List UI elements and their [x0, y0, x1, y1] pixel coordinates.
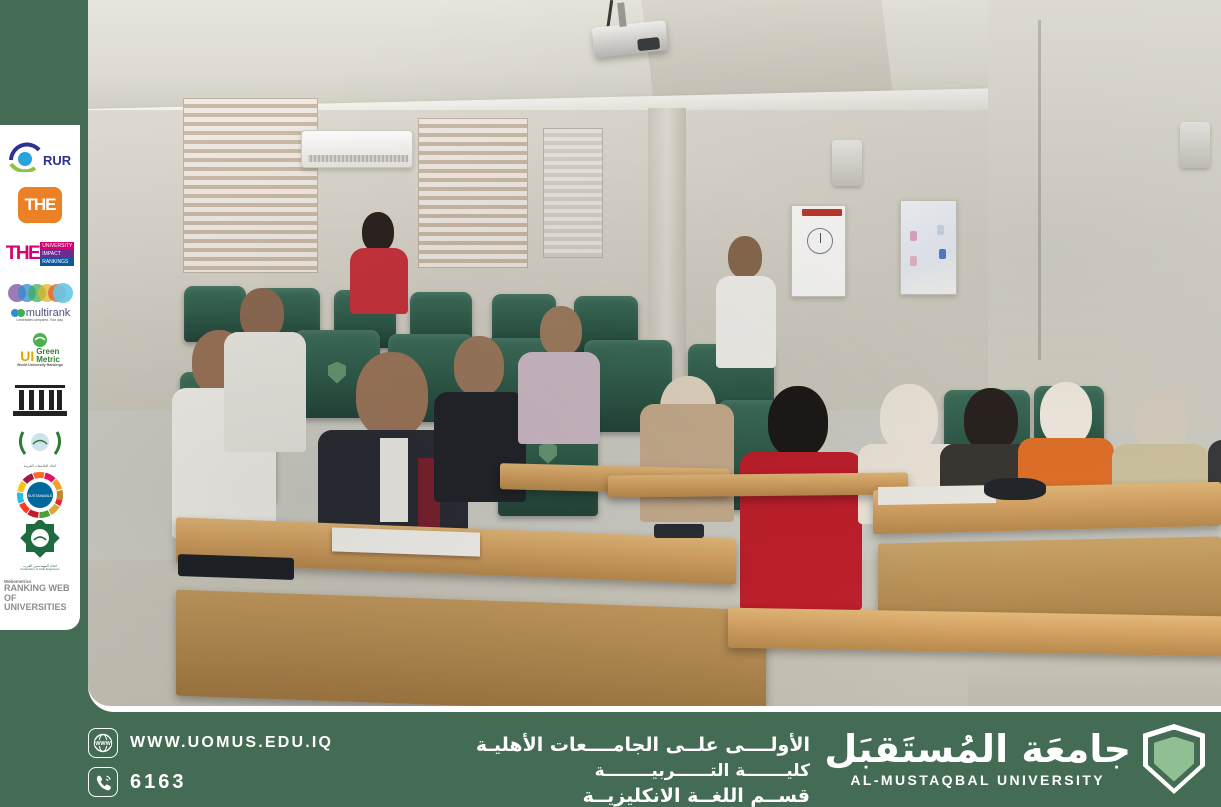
right-wall: [988, 0, 1221, 430]
classroom-photo: [88, 0, 1221, 706]
phone-icon: [88, 767, 118, 797]
tagline-block: الأولــــى علــى الجامــــعات الأهليـة ك…: [330, 732, 810, 807]
badge-sdg-wheel: SUSTAINABLE: [4, 471, 76, 519]
desk: [608, 472, 908, 497]
svg-text:RUR: RUR: [43, 153, 72, 168]
badge-impact-line2: IMPACT: [40, 250, 74, 258]
wall-poster-clock: [791, 205, 846, 297]
wall-speaker-right: [1180, 122, 1210, 168]
badge-sdg-sub: SUSTAINABLE: [28, 494, 53, 498]
badge-greenmetric-sub: World University Rankings: [17, 364, 63, 368]
notebook: [878, 485, 996, 505]
tagline-line-1: الأولــــى علــى الجامــــعات الأهليـة: [330, 732, 810, 759]
badge-arab-uni-sub: اتحاد الجامعات العربية: [13, 465, 67, 469]
brand-arabic-name: جامعَة المُستَقبَل: [824, 730, 1131, 768]
badge-webometrics: Webometrics RANKING WEB OF UNIVERSITIES: [4, 572, 76, 620]
badge-ui-greenmetric: UI Green Metric World University Ranking…: [4, 326, 76, 374]
tagline-line-2: كليـــــــة التــــــربيــــــــة: [330, 759, 810, 783]
website-row[interactable]: WWW WWW.UOMUS.EDU.IQ: [88, 728, 333, 758]
tagline-line-3: قســم اللغــة الانكليزيــة: [330, 783, 810, 807]
footer-bar: WWW WWW.UOMUS.EDU.IQ 6163 الأولــــى علـ…: [0, 712, 1221, 807]
handbag: [984, 478, 1046, 500]
badge-arab-engineers: اتحاد المهندسين العرب Federation of Arab…: [4, 520, 76, 572]
badge-ui-label: UI: [20, 348, 34, 364]
badge-impact-line1: UNIVERSITY: [40, 242, 74, 250]
badge-impact-line3: RANKINGS: [40, 258, 74, 266]
badge-rur: RUR: [4, 133, 76, 181]
desk-front-panel: [176, 590, 766, 706]
badge-the-impact-label: THE: [6, 243, 40, 265]
notebook: [332, 527, 480, 556]
wall-speaker-left: [832, 140, 862, 186]
phone-row[interactable]: 6163: [88, 767, 333, 797]
phone-label: 6163: [130, 771, 187, 794]
badge-arab-universities: اتحاد الجامعات العربية: [4, 423, 76, 471]
contact-block: WWW WWW.UOMUS.EDU.IQ 6163: [88, 728, 333, 806]
brand-text: جامعَة المُستَقبَل AL-MUSTAQBAL UNIVERSI…: [824, 730, 1131, 788]
university-brand: جامعَة المُستَقبَل AL-MUSTAQBAL UNIVERSI…: [824, 724, 1205, 794]
badge-multirank: multirank Universities compared. Your wa…: [4, 278, 76, 326]
photo-frame: [88, 0, 1221, 712]
badge-the-impact: THE UNIVERSITY IMPACT RANKINGS: [4, 230, 76, 278]
brand-english-name: AL-MUSTAQBAL UNIVERSITY: [824, 772, 1131, 788]
air-conditioner-icon: [301, 130, 413, 168]
window-blind-center: [418, 118, 528, 268]
badge-webometrics-line2: OF UNIVERSITIES: [4, 594, 76, 613]
badge-classical-building-icon: [4, 375, 76, 423]
smartphone: [654, 524, 704, 538]
accreditation-badge-panel: RUR THE THE UNIVERSITY IMPACT RANKINGS: [0, 125, 80, 630]
website-label: WWW.UOMUS.EDU.IQ: [130, 734, 333, 752]
university-shield-icon: [1143, 724, 1205, 794]
badge-the-label: THE: [25, 195, 56, 215]
laptop: [178, 554, 294, 580]
poster-canvas: RUR THE THE UNIVERSITY IMPACT RANKINGS: [0, 0, 1221, 807]
window-blind-right: [543, 128, 603, 258]
svg-text:WWW: WWW: [95, 741, 111, 747]
window-blind-left: [183, 98, 318, 273]
wall-poster-infographic: [900, 200, 957, 295]
badge-the: THE: [4, 181, 76, 229]
badge-multirank-sub: Universities compared. Your way.: [7, 319, 73, 323]
globe-www-icon: WWW: [88, 728, 118, 758]
